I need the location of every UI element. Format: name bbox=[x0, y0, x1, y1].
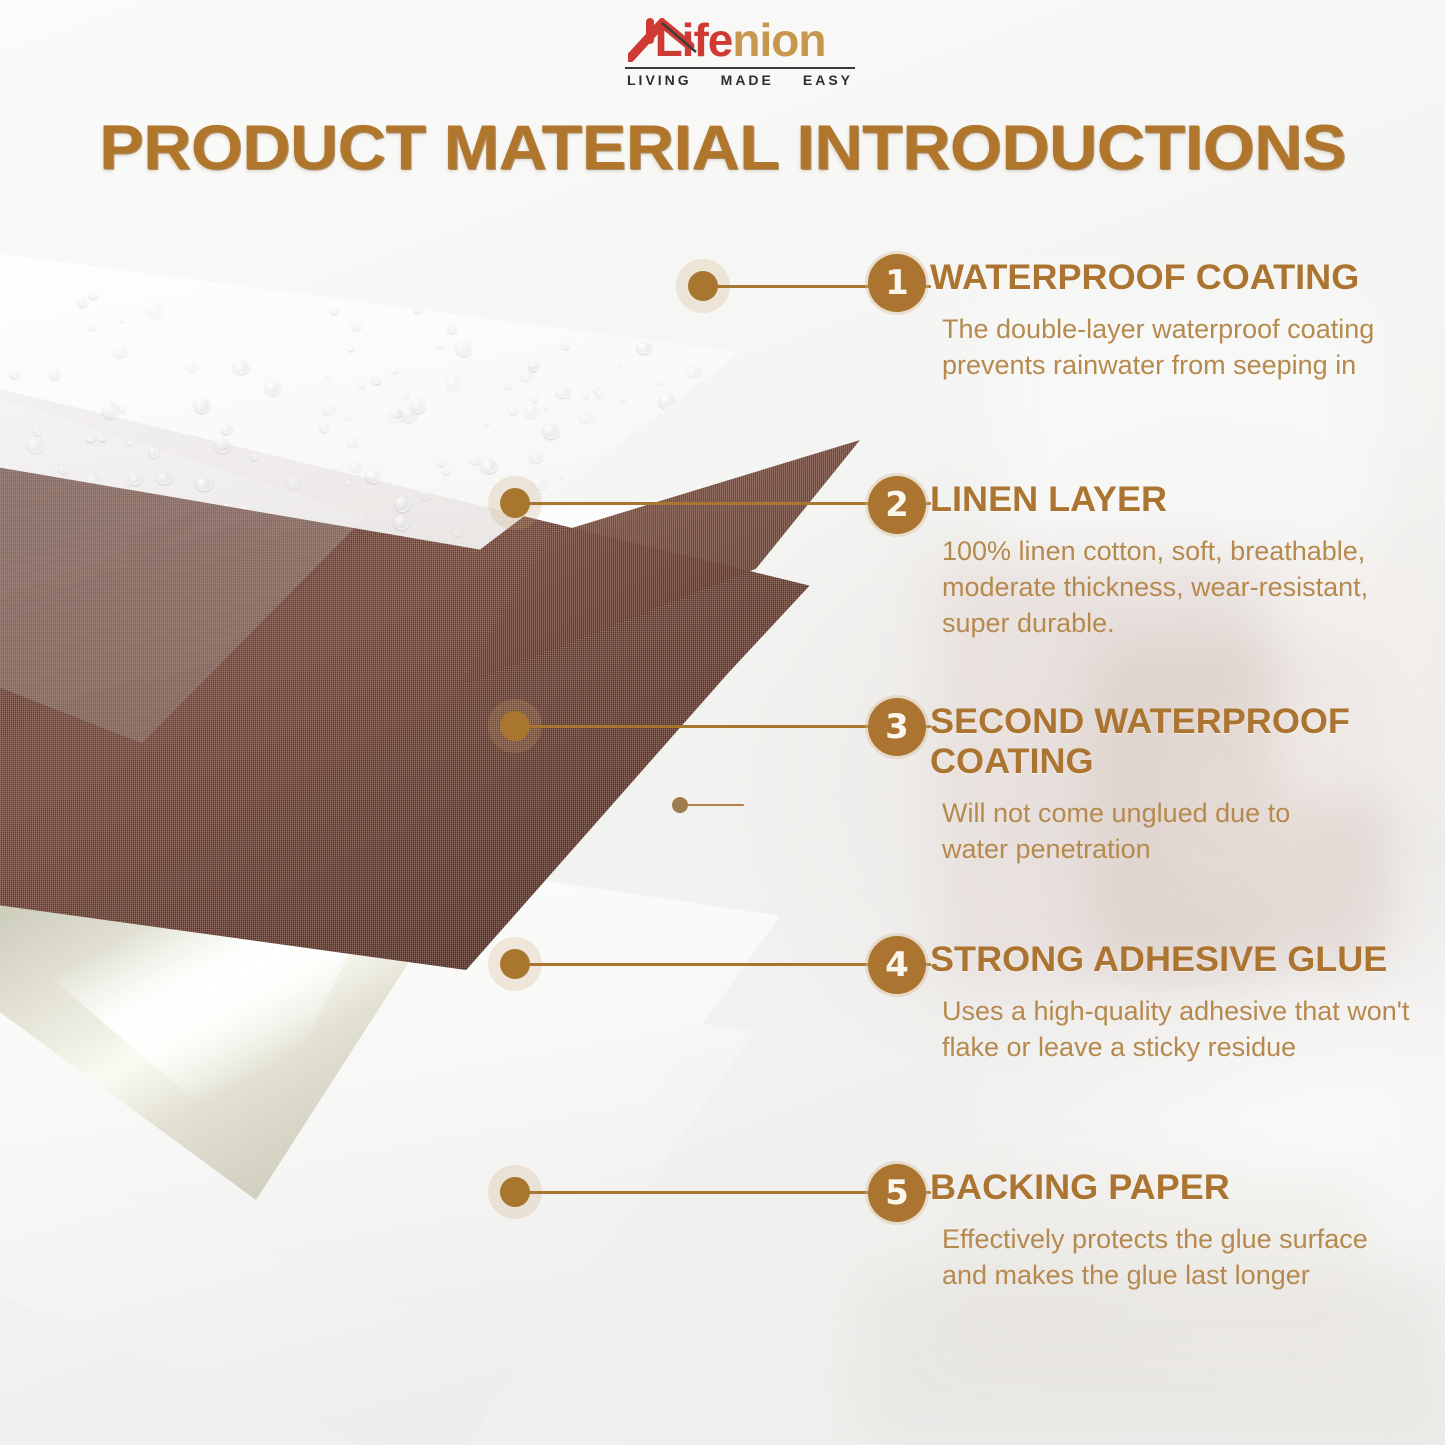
water-droplet bbox=[659, 394, 676, 409]
water-droplet bbox=[530, 360, 539, 367]
callout-title-2: LINEN LAYER bbox=[930, 480, 1426, 520]
callout-item-5: 5 BACKING PAPER Effectively protects the… bbox=[930, 1168, 1412, 1293]
water-droplet bbox=[388, 409, 405, 422]
callout-body-3: Will not come unglued due to water penet… bbox=[942, 795, 1360, 867]
callout-title-1: WATERPROOF COATING bbox=[930, 258, 1426, 298]
house-roof-icon bbox=[628, 18, 706, 62]
water-droplet bbox=[525, 404, 538, 418]
water-droplet bbox=[265, 380, 280, 395]
page-title: PRODUCT MATERIAL INTRODUCTIONS bbox=[0, 112, 1445, 184]
water-droplet bbox=[543, 423, 559, 439]
water-droplet bbox=[504, 381, 512, 389]
water-droplet bbox=[157, 473, 172, 484]
water-droplet bbox=[196, 478, 212, 491]
water-droplet bbox=[350, 462, 362, 472]
water-droplet bbox=[556, 387, 570, 398]
water-droplet bbox=[532, 396, 538, 402]
callout-title-4: STRONG ADHESIVE GLUE bbox=[930, 940, 1426, 980]
water-droplet bbox=[371, 376, 380, 384]
callout-body-2: 100% linen cotton, soft, breathable, mod… bbox=[942, 533, 1412, 641]
water-droplet bbox=[129, 474, 142, 485]
water-droplet bbox=[419, 488, 430, 500]
water-droplet bbox=[149, 447, 159, 458]
water-droplet bbox=[78, 299, 87, 307]
water-droplet bbox=[366, 469, 380, 483]
callout-leader-3-secondary bbox=[686, 804, 744, 806]
water-droplet bbox=[322, 403, 335, 415]
water-droplet bbox=[251, 453, 257, 460]
water-droplet bbox=[88, 324, 95, 330]
water-droplet bbox=[331, 309, 338, 314]
water-droplet bbox=[686, 366, 701, 377]
water-droplet bbox=[119, 406, 126, 412]
water-droplet bbox=[481, 460, 497, 473]
water-droplet bbox=[221, 425, 232, 434]
brand-logo: Lifenion LIVING MADE EASY bbox=[620, 14, 860, 96]
logo-text-nion: nion bbox=[732, 14, 825, 66]
water-droplet bbox=[592, 386, 597, 391]
water-droplet bbox=[348, 347, 354, 351]
water-droplet bbox=[638, 308, 655, 324]
callout-item-3: 3 SECOND WATERPROOF COATING Will not com… bbox=[930, 702, 1360, 867]
water-droplet bbox=[637, 342, 652, 354]
water-droplet bbox=[34, 428, 41, 435]
callout-badge-4: 4 bbox=[868, 936, 926, 994]
callout-badge-3: 3 bbox=[868, 698, 926, 756]
water-droplet bbox=[146, 303, 162, 318]
water-droplet bbox=[326, 374, 330, 378]
water-droplet bbox=[596, 389, 603, 397]
water-droplet bbox=[352, 322, 361, 330]
water-droplet bbox=[470, 456, 480, 464]
water-droplet bbox=[453, 529, 462, 536]
water-droplet bbox=[680, 316, 689, 322]
water-droplet bbox=[684, 456, 688, 460]
water-droplet bbox=[436, 459, 445, 466]
callout-item-2: 2 LINEN LAYER 100% linen cotton, soft, b… bbox=[930, 480, 1412, 641]
water-droplet bbox=[591, 482, 606, 493]
water-droplet bbox=[394, 515, 409, 530]
callout-body-1: The double-layer waterproof coating prev… bbox=[942, 311, 1412, 383]
water-droplet bbox=[622, 319, 632, 327]
water-droplet bbox=[120, 318, 124, 322]
water-droplet bbox=[559, 475, 563, 478]
water-droplet bbox=[693, 463, 707, 478]
water-droplet bbox=[438, 344, 443, 348]
logo-divider bbox=[625, 67, 855, 69]
product-material-infographic: Lifenion LIVING MADE EASY PRODUCT MATERI… bbox=[0, 0, 1445, 1445]
callout-badge-1: 1 bbox=[868, 254, 926, 312]
water-droplet bbox=[562, 342, 570, 349]
water-droplet bbox=[98, 435, 106, 441]
water-droplet bbox=[360, 383, 365, 388]
water-droplet bbox=[446, 375, 461, 390]
water-droplet bbox=[288, 477, 299, 489]
water-droplet bbox=[27, 439, 44, 453]
water-droplet bbox=[50, 369, 60, 379]
water-droplet bbox=[627, 434, 644, 451]
water-droplet bbox=[541, 321, 544, 323]
callout-badge-2: 2 bbox=[868, 476, 926, 534]
callout-badge-5: 5 bbox=[868, 1164, 926, 1222]
callout-item-1: 1 WATERPROOF COATING The double-layer wa… bbox=[930, 258, 1412, 383]
water-droplet bbox=[627, 459, 643, 472]
callout-body-4: Uses a high-quality adhesive that won't … bbox=[942, 993, 1412, 1065]
water-droplet bbox=[59, 466, 67, 473]
water-droplet bbox=[448, 326, 456, 333]
water-droplet bbox=[579, 412, 593, 422]
material-layer-stack bbox=[0, 200, 920, 1445]
water-droplet bbox=[320, 424, 329, 432]
water-droplet bbox=[10, 370, 19, 378]
water-droplet bbox=[345, 415, 350, 419]
water-droplet bbox=[619, 362, 622, 365]
logo-tagline: LIVING MADE EASY bbox=[627, 72, 853, 88]
water-droplet bbox=[392, 368, 398, 373]
water-droplet bbox=[530, 452, 542, 463]
water-droplet bbox=[532, 477, 548, 489]
water-droplet bbox=[128, 441, 132, 445]
water-droplet bbox=[584, 394, 589, 398]
water-droplet bbox=[484, 420, 489, 425]
water-droplet bbox=[403, 394, 409, 399]
water-droplet bbox=[395, 496, 410, 512]
background-floor bbox=[860, 1270, 1445, 1445]
water-droplet bbox=[187, 363, 197, 371]
tagline-word-easy: EASY bbox=[803, 72, 853, 88]
tagline-word-living: LIVING bbox=[627, 72, 692, 88]
callout-body-5: Effectively protects the glue surface an… bbox=[942, 1221, 1412, 1293]
water-droplet bbox=[588, 298, 597, 307]
water-droplet bbox=[215, 439, 231, 453]
callout-title-5: BACKING PAPER bbox=[930, 1168, 1426, 1208]
water-droplet bbox=[89, 292, 97, 299]
water-droplet bbox=[194, 399, 210, 413]
water-droplet bbox=[345, 480, 351, 485]
water-droplet bbox=[545, 406, 548, 409]
water-droplet bbox=[102, 402, 118, 418]
water-droplet bbox=[414, 308, 421, 313]
callout-item-4: 4 STRONG ADHESIVE GLUE Uses a high-quali… bbox=[930, 940, 1412, 1065]
tagline-word-made: MADE bbox=[721, 72, 774, 88]
water-droplet bbox=[456, 342, 471, 356]
callout-title-3: SECOND WATERPROOF COATING bbox=[930, 702, 1373, 782]
water-droplet bbox=[233, 361, 249, 374]
water-droplet bbox=[631, 452, 635, 456]
water-droplet bbox=[347, 438, 357, 447]
water-droplet bbox=[114, 347, 127, 357]
water-droplet bbox=[412, 399, 425, 413]
water-droplet bbox=[520, 370, 534, 381]
water-droplet bbox=[509, 407, 518, 414]
water-droplet bbox=[86, 435, 95, 442]
water-droplet bbox=[621, 398, 626, 402]
water-droplet bbox=[443, 469, 449, 474]
water-droplet bbox=[656, 379, 663, 385]
